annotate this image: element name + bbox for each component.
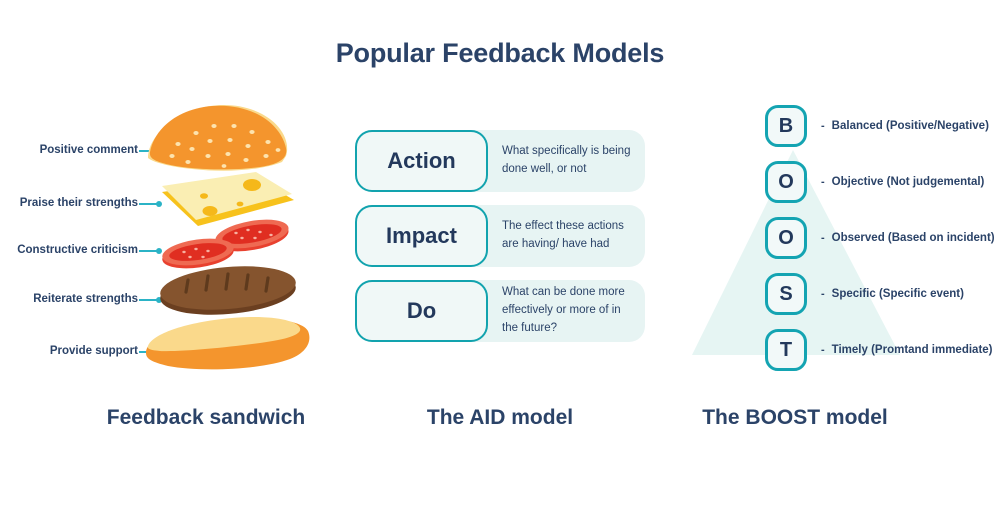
aid-pill-do[interactable]: Do (355, 280, 488, 342)
sandwich-label-2: Constructive criticism (17, 244, 138, 256)
sandwich-label-4: Provide support (50, 345, 138, 357)
boost-row-b[interactable]: B - Balanced (Positive/Negative) (765, 105, 989, 147)
boost-badge-t[interactable]: T (765, 329, 807, 371)
caption-aid-model: The AID model (360, 406, 640, 430)
aid-term-2: Do (407, 298, 436, 324)
boost-text-3: Specific (Specific event) (832, 288, 964, 300)
aid-description-2: What can be done more effectively or mor… (502, 280, 634, 342)
boost-letter-2: O (778, 227, 794, 250)
aid-description-0: What specifically is being done well, or… (502, 130, 634, 192)
boost-letter-0: B (779, 115, 793, 138)
boost-badge-b[interactable]: B (765, 105, 807, 147)
boost-row-s[interactable]: S - Specific (Specific event) (765, 273, 964, 315)
aid-row-action[interactable]: Action What specifically is being done w… (355, 130, 645, 192)
aid-description-1: The effect these actions are having/ hav… (502, 205, 634, 267)
aid-term-1: Impact (386, 223, 457, 249)
sandwich-label-0: Positive comment (40, 144, 138, 156)
sandwich-label-3: Reiterate strengths (33, 293, 138, 305)
boost-dash-2: - (821, 232, 825, 244)
feedback-sandwich-diagram: Positive comment Praise their strengths … (0, 100, 330, 390)
boost-text-2: Observed (Based on incident) (832, 232, 995, 244)
boost-letter-3: S (779, 283, 792, 306)
boost-row-o1[interactable]: O - Objective (Not judgemental) (765, 161, 984, 203)
aid-term-0: Action (387, 148, 455, 174)
boost-badge-o1[interactable]: O (765, 161, 807, 203)
aid-row-impact[interactable]: Impact The effect these actions are havi… (355, 205, 645, 267)
boost-text-1: Objective (Not judgemental) (832, 176, 985, 188)
boost-text-4: Timely (Promtand immediate) (832, 344, 993, 356)
boost-text-0: Balanced (Positive/Negative) (832, 120, 989, 132)
boost-badge-o2[interactable]: O (765, 217, 807, 259)
boost-letter-4: T (780, 339, 792, 362)
aid-model-diagram: Action What specifically is being done w… (355, 130, 655, 360)
caption-feedback-sandwich: Feedback sandwich (66, 406, 346, 430)
aid-row-do[interactable]: Do What can be done more effectively or … (355, 280, 645, 342)
boost-badge-s[interactable]: S (765, 273, 807, 315)
tomato-slices-icon (161, 215, 291, 273)
top-bun-icon (148, 105, 287, 171)
boost-dash-1: - (821, 176, 825, 188)
boost-row-o2[interactable]: O - Observed (Based on incident) (765, 217, 995, 259)
boost-row-t[interactable]: T - Timely (Promtand immediate) (765, 329, 993, 371)
bottom-bun-icon (146, 317, 309, 369)
patty-icon (158, 261, 297, 320)
sandwich-illustration (140, 100, 330, 380)
cheese-slice-icon (162, 172, 294, 226)
boost-dash-0: - (821, 120, 825, 132)
aid-pill-impact[interactable]: Impact (355, 205, 488, 267)
page-title: Popular Feedback Models (0, 38, 1000, 69)
boost-letter-1: O (778, 171, 794, 194)
boost-dash-3: - (821, 288, 825, 300)
boost-dash-4: - (821, 344, 825, 356)
boost-model-diagram: B - Balanced (Positive/Negative) O - Obj… (655, 95, 1000, 380)
sandwich-label-1: Praise their strengths (20, 197, 138, 209)
aid-pill-action[interactable]: Action (355, 130, 488, 192)
caption-boost-model: The BOOST model (655, 406, 935, 430)
